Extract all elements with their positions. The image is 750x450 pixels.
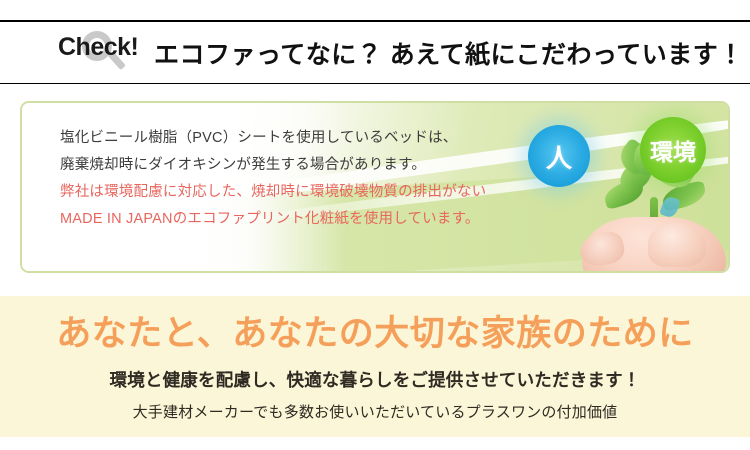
eco-card-line-1: 塩化ビニール樹脂（PVC）シートを使用しているベッドは、 <box>60 125 486 152</box>
tagline-headline: あなたと、あなたの大切な家族のために <box>0 312 750 356</box>
tagline-section: あなたと、あなたの大切な家族のために 環境と健康を配慮し、快適な暮らしをご提供さ… <box>0 296 750 437</box>
check-label: Check! <box>58 33 138 62</box>
eco-card-text: 塩化ビニール樹脂（PVC）シートを使用しているベッドは、 廃棄焼却時にダイオキシ… <box>60 125 486 233</box>
tagline-subtext-secondary: 大手建材メーカーでも多数お使いいただいているプラスワンの付加価値 <box>0 401 750 422</box>
badge-person: 人 <box>528 125 590 187</box>
eco-card-line-4: MADE IN JAPANのエコファプリント化粧紙を使用しています。 <box>60 206 486 233</box>
badge-person-label: 人 <box>546 138 572 175</box>
eco-card-line-3: 弊社は環境配慮に対応した、焼却時に環境破壊物質の排出がない <box>60 179 486 206</box>
eco-info-card: 人 環境 塩化ビニール樹脂（PVC）シートを使用しているベッドは、 廃棄焼却時に… <box>20 101 730 273</box>
tagline-subtext-primary: 環境と健康を配慮し、快適な暮らしをご提供させていただきます！ <box>0 367 750 392</box>
badge-environment: 環境 <box>640 117 706 183</box>
header-banner: Check! エコファってなに？ あえて紙にこだわっています！ <box>0 20 750 84</box>
badge-environment-label: 環境 <box>650 133 696 167</box>
check-badge: Check! <box>58 27 150 79</box>
page-title: エコファってなに？ あえて紙にこだわっています！ <box>154 35 744 71</box>
eco-card-line-2: 廃棄焼却時にダイオキシンが発生する場合があります。 <box>60 152 486 179</box>
